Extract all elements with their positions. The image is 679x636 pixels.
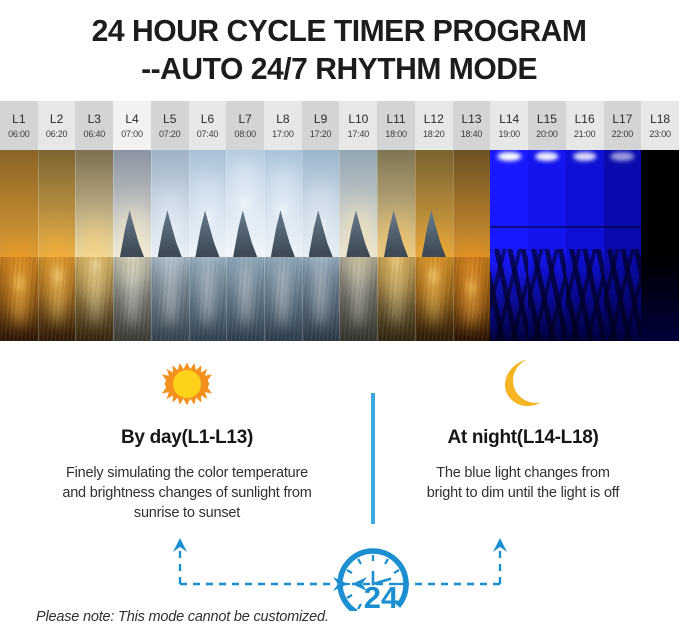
timeline-time-label: 23:00	[649, 129, 671, 139]
timeline-time-label: 07:00	[121, 129, 143, 139]
preview-cell-l10	[339, 150, 377, 341]
timeline-cell-l10[interactable]: L1017:40	[339, 101, 377, 150]
preview-cell-l1	[0, 150, 38, 341]
sun-icon	[12, 353, 362, 415]
night-description-line-1: The blue light changes from	[378, 463, 668, 483]
timeline-cell-l1[interactable]: L106:00	[0, 101, 38, 150]
preview-cell-l3	[75, 150, 113, 341]
timeline-time-label: 17:40	[348, 129, 370, 139]
timeline-time-label: 21:00	[574, 129, 596, 139]
night-title: At night(L14-L18)	[378, 427, 668, 449]
timeline-level-label: L13	[461, 113, 481, 126]
timeline-cell-l16[interactable]: L1621:00	[566, 101, 604, 150]
timeline-cell-l4[interactable]: L407:00	[113, 101, 151, 150]
timeline-cell-l8[interactable]: L817:00	[264, 101, 302, 150]
night-column: At night(L14-L18) The blue light changes…	[378, 341, 668, 503]
timeline-cell-l17[interactable]: L1722:00	[604, 101, 642, 150]
timeline-time-label: 06:20	[46, 129, 68, 139]
timeline-level-label: L17	[612, 113, 632, 126]
timeline-level-label: L7	[238, 113, 251, 126]
timeline-time-label: 17:20	[310, 129, 332, 139]
timeline-time-label: 18:40	[461, 129, 483, 139]
timeline-time-label: 08:00	[234, 129, 256, 139]
preview-cell-l8	[264, 150, 302, 341]
timeline-cell-l18[interactable]: L1823:00	[641, 101, 679, 150]
preview-cell-l17	[604, 150, 642, 341]
timeline-time-label: 06:40	[84, 129, 106, 139]
timeline-label-row: L106:00L206:20L306:40L407:00L507:20L607:…	[0, 101, 679, 150]
day-description-line-1: Finely simulating the color temperature	[12, 463, 362, 483]
preview-cell-l11	[377, 150, 415, 341]
timeline-level-label: L2	[50, 113, 63, 126]
timeline-cell-l3[interactable]: L306:40	[75, 101, 113, 150]
clock-24-label: 24	[364, 580, 399, 611]
description-panel: By day(L1-L13) Finely simulating the col…	[0, 341, 679, 636]
timeline-level-label: L6	[201, 113, 214, 126]
preview-cell-l13	[453, 150, 491, 341]
preview-cell-l2	[38, 150, 76, 341]
title-line-1: 24 HOUR CYCLE TIMER PROGRAM	[92, 12, 587, 50]
timeline-level-label: L18	[650, 113, 670, 126]
timeline-level-label: L11	[386, 113, 405, 126]
timeline-level-label: L14	[499, 113, 519, 126]
day-column: By day(L1-L13) Finely simulating the col…	[12, 341, 362, 523]
timeline-time-label: 06:00	[8, 129, 30, 139]
timeline-level-label: L12	[424, 113, 444, 126]
timeline-level-label: L9	[314, 113, 327, 126]
timeline-time-label: 18:20	[423, 129, 445, 139]
timeline-cell-l5[interactable]: L507:20	[151, 101, 189, 150]
arrowhead-up-right-icon	[493, 538, 507, 552]
timeline-time-label: 19:00	[498, 129, 520, 139]
timeline-cell-l14[interactable]: L1419:00	[490, 101, 528, 150]
day-description-line-3: sunrise to sunset	[12, 503, 362, 523]
timeline-level-label: L4	[125, 113, 138, 126]
night-description: The blue light changes from bright to di…	[378, 463, 668, 503]
lighting-preview-strip	[0, 150, 679, 341]
preview-cell-l4	[113, 150, 151, 341]
preview-cell-l6	[189, 150, 227, 341]
timeline-cell-l2[interactable]: L206:20	[38, 101, 76, 150]
timeline-level-label: L16	[575, 113, 595, 126]
day-title: By day(L1-L13)	[12, 427, 362, 449]
timeline-time-label: 07:20	[159, 129, 181, 139]
preview-cell-l9	[302, 150, 340, 341]
preview-cell-l12	[415, 150, 453, 341]
timeline-level-label: L15	[537, 113, 557, 126]
timeline-time-label: 17:00	[272, 129, 294, 139]
timeline-level-label: L8	[276, 113, 289, 126]
arrowhead-up-left-icon	[173, 538, 187, 552]
night-description-line-2: bright to dim until the light is off	[378, 483, 668, 503]
timeline-time-label: 20:00	[536, 129, 558, 139]
timeline-cell-l13[interactable]: L1318:40	[453, 101, 491, 150]
timeline-level-label: L5	[163, 113, 176, 126]
preview-cell-l5	[151, 150, 189, 341]
cycle-flow-diagram: 24	[0, 536, 679, 611]
timeline-level-label: L10	[348, 113, 368, 126]
timeline-level-label: L1	[12, 113, 25, 126]
vertical-divider	[371, 393, 375, 524]
timeline-time-label: 07:40	[197, 129, 219, 139]
timeline-time-label: 18:00	[385, 129, 407, 139]
moon-icon	[378, 353, 668, 415]
timeline-cell-l6[interactable]: L607:40	[189, 101, 227, 150]
day-description-line-2: and brightness changes of sunlight from	[12, 483, 362, 503]
footer-note: Please note: This mode cannot be customi…	[36, 609, 329, 625]
preview-cell-l14	[490, 150, 528, 341]
preview-cell-l18	[641, 150, 679, 341]
title-line-2: --AUTO 24/7 RHYTHM MODE	[142, 50, 538, 88]
preview-cell-l15	[528, 150, 566, 341]
timeline-cell-l11[interactable]: L1118:00	[377, 101, 415, 150]
preview-cell-l16	[566, 150, 604, 341]
timeline-time-label: 22:00	[612, 129, 634, 139]
day-description: Finely simulating the color temperature …	[12, 463, 362, 523]
timeline-cell-l9[interactable]: L917:20	[302, 101, 340, 150]
timeline-cell-l12[interactable]: L1218:20	[415, 101, 453, 150]
timeline-cell-l7[interactable]: L708:00	[226, 101, 264, 150]
timeline-cell-l15[interactable]: L1520:00	[528, 101, 566, 150]
timeline-level-label: L3	[88, 113, 101, 126]
page-title: 24 HOUR CYCLE TIMER PROGRAM --AUTO 24/7 …	[0, 0, 679, 100]
preview-cell-l7	[226, 150, 264, 341]
